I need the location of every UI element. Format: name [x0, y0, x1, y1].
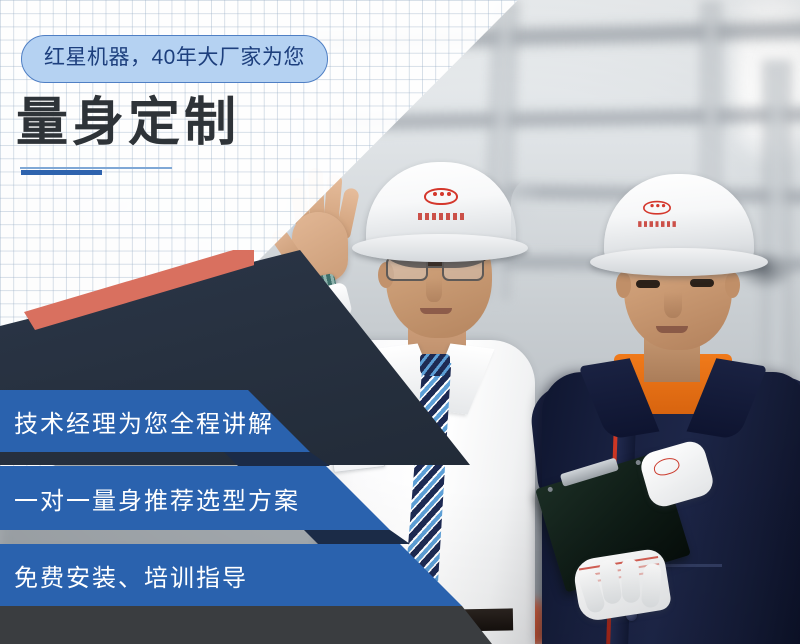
- necktie-knot: [420, 354, 450, 376]
- right-engineer: [540, 176, 800, 644]
- page-title: 量身定制: [16, 94, 240, 152]
- logo-wordmark: [638, 221, 676, 227]
- eye: [636, 280, 660, 288]
- bottom-dark-bar: [0, 606, 492, 644]
- hard-hat-brim: [590, 248, 768, 276]
- logo-dot: [650, 204, 653, 207]
- feature-banner-1-label: 技术经理为您全程讲解: [0, 404, 274, 439]
- nose: [426, 278, 442, 302]
- ear: [616, 272, 631, 298]
- glove-finger: [620, 558, 640, 603]
- hard-hat-logo-icon: [418, 186, 464, 220]
- headline-rule-thin: [20, 167, 172, 169]
- hard-hat-brim: [352, 234, 528, 262]
- logo-glyph: [424, 188, 458, 205]
- feature-banner-3-label: 免费安装、培训指导: [0, 558, 248, 593]
- logo-dot: [433, 192, 437, 196]
- ear: [725, 272, 740, 298]
- hard-hat-logo-icon: [638, 199, 676, 227]
- bridge: [428, 266, 444, 268]
- mouth: [656, 326, 688, 333]
- glove-finger: [641, 563, 662, 608]
- glove-logo-icon: [652, 455, 681, 478]
- clipboard-rivet: [547, 486, 553, 492]
- tagline-pill: 红星机器，40年大厂家为您: [21, 35, 328, 83]
- nose: [664, 292, 682, 318]
- feature-banner-3: 免费安装、培训指导: [0, 544, 462, 606]
- logo-glyph: [643, 201, 671, 215]
- logo-wordmark: [418, 213, 464, 220]
- mouth: [420, 308, 452, 314]
- promo-banner: 红星机器，40年大厂家为您 量身定制 技术经理为您全程讲解 一对一量身推荐选型方…: [0, 0, 800, 644]
- headline-rule-thick: [21, 170, 102, 175]
- eye: [690, 279, 714, 287]
- feature-banner-2-label: 一对一量身推荐选型方案: [0, 481, 300, 516]
- feature-banner-2: 一对一量身推荐选型方案: [0, 466, 390, 530]
